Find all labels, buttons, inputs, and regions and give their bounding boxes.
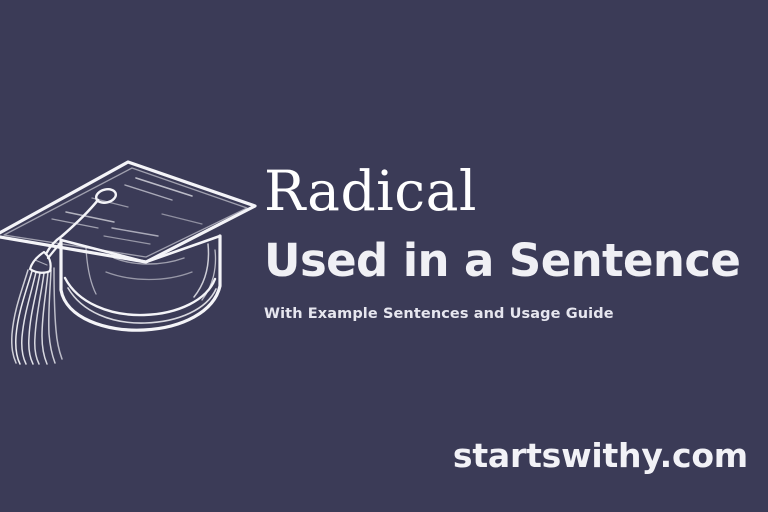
banner-card: Radical Used in a Sentence With Example …	[0, 0, 768, 512]
tassel-strands-sketch	[12, 268, 62, 364]
graduation-cap-icon	[0, 140, 266, 365]
brand-domain: startswithy.com	[453, 434, 748, 478]
text-block: Radical Used in a Sentence With Example …	[264, 160, 760, 324]
headline: Used in a Sentence	[264, 234, 760, 288]
cap-fold-lines	[48, 236, 220, 262]
word-title: Radical	[264, 160, 760, 222]
mortarboard-sketch	[0, 162, 255, 262]
tassel-head-sketch	[30, 252, 51, 273]
cap-button-and-cord	[46, 187, 117, 254]
cap-base-sketch	[61, 236, 220, 330]
subtitle: With Example Sentences and Usage Guide	[264, 304, 760, 324]
